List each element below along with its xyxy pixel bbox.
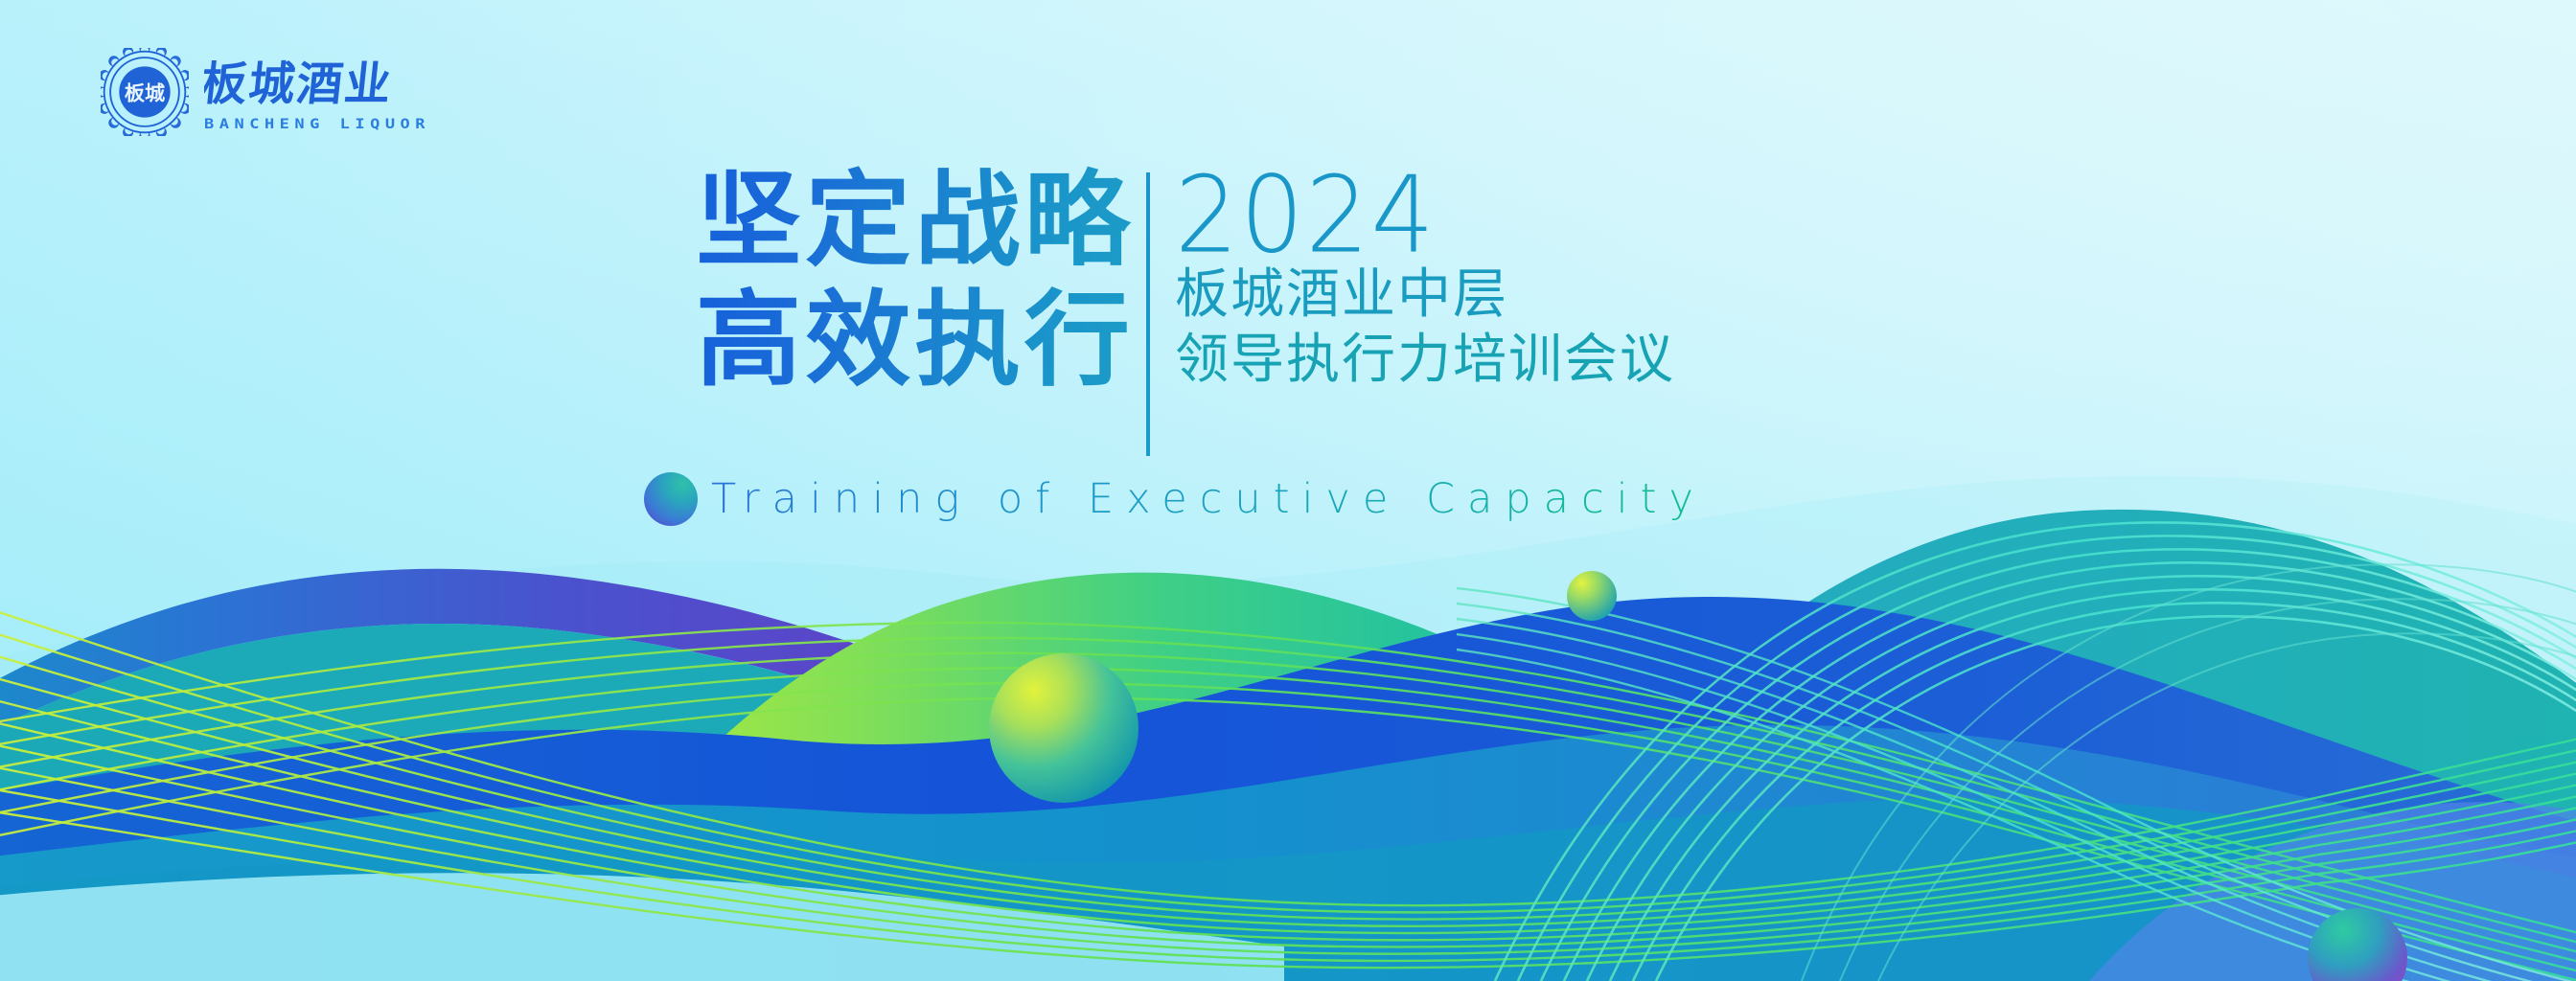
slogan: 坚定战略 高效执行 xyxy=(696,161,1146,399)
brand-logo[interactable]: 板城 板城酒业 BANCHENG LIQUOR xyxy=(101,48,430,136)
english-tagline: Training of Executive Capacity xyxy=(711,475,1706,523)
english-tagline-row: Training of Executive Capacity xyxy=(644,472,1706,526)
bancheng-seal-icon: 板城 xyxy=(101,48,189,136)
headline-block: 坚定战略 高效执行 2024 板城酒业中层 领导执行力培训会议 xyxy=(696,161,1675,456)
event-subtitle-line-2: 领导执行力培训会议 xyxy=(1175,328,1675,393)
medium-sphere xyxy=(1567,571,1617,621)
brand-name-cn: 板城酒业 xyxy=(204,57,396,111)
slogan-line-1: 坚定战略 xyxy=(696,161,1134,279)
seal-text: 板城 xyxy=(125,80,165,104)
slogan-line-2: 高效执行 xyxy=(696,281,1134,399)
brand-name-en: BANCHENG LIQUOR xyxy=(204,117,430,132)
event-meta: 2024 板城酒业中层 领导执行力培训会议 xyxy=(1150,161,1675,394)
large-sphere xyxy=(989,653,1138,803)
logo-wordmark: 板城酒业 BANCHENG LIQUOR xyxy=(204,50,430,134)
event-year: 2024 xyxy=(1175,161,1675,268)
banner-canvas: 板城 板城酒业 BANCHENG LIQUOR 坚定战略 高效执行 2024 板… xyxy=(0,0,2576,981)
brand-name-cn-icon: 板城酒业 xyxy=(204,54,425,113)
tagline-bullet-sphere-icon xyxy=(644,472,698,526)
